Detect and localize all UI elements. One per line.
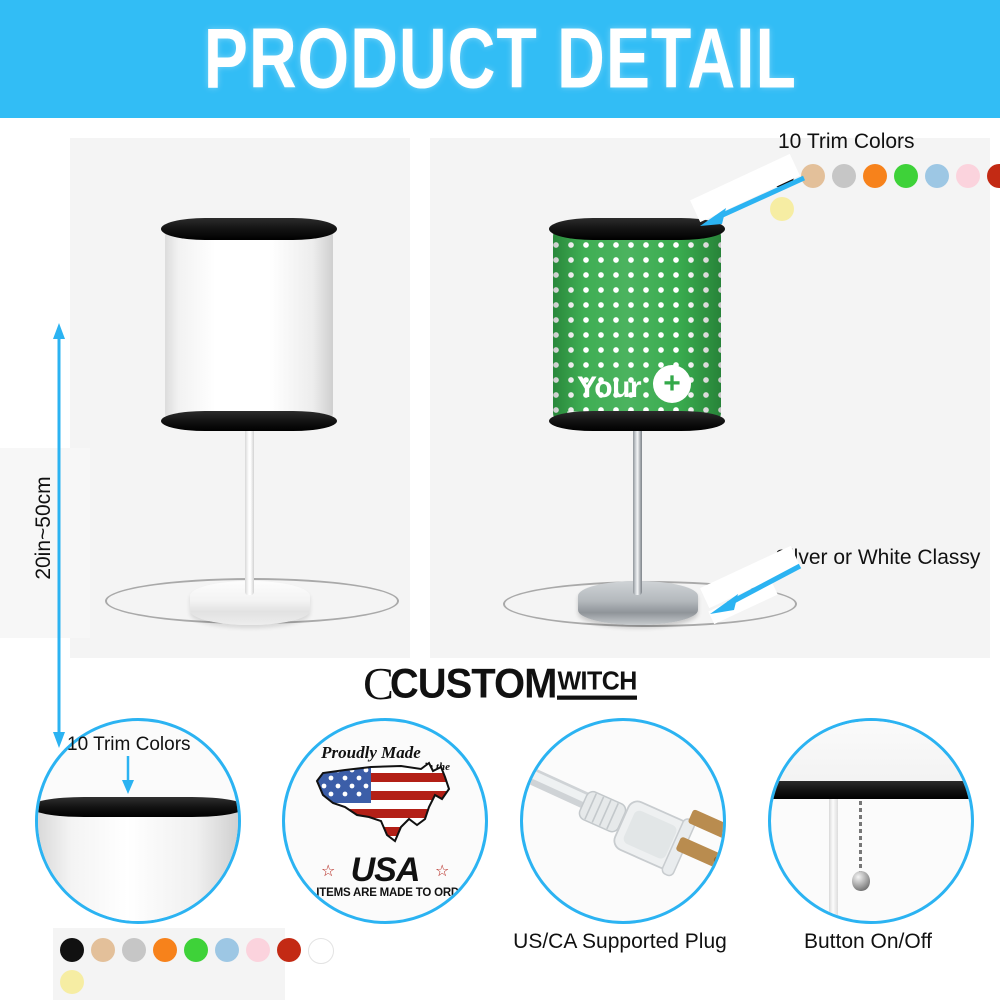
- trim-swatch-green[interactable]: [894, 164, 918, 188]
- trim-swatch-orange[interactable]: [863, 164, 887, 188]
- feature-trim-inner-label: 10 Trim Colors: [67, 734, 191, 756]
- trim-swatch-green[interactable]: [184, 938, 208, 962]
- trim-colors-top-label: 10 Trim Colors: [778, 130, 915, 154]
- feature-plug-caption: US/CA Supported Plug: [500, 930, 740, 954]
- trim-swatch-light-blue[interactable]: [215, 938, 239, 962]
- trim-swatch-pink[interactable]: [246, 938, 270, 962]
- feature-circle-switch: [768, 718, 974, 924]
- trim-shade-body: [35, 805, 241, 924]
- page-header: PRODUCT DETAIL: [0, 0, 1000, 118]
- trim-swatch-red[interactable]: [987, 164, 1000, 188]
- trim-swatch-gray[interactable]: [832, 164, 856, 188]
- lamp-white: [160, 203, 340, 633]
- switch-pull-chain[interactable]: [859, 801, 862, 877]
- trim-shade-black-ring: [35, 797, 241, 817]
- power-plug-icon: [523, 721, 723, 921]
- page-title: PRODUCT DETAIL: [203, 17, 796, 102]
- trim-swatch-tan[interactable]: [91, 938, 115, 962]
- lampshade-white-main: [165, 227, 333, 422]
- switch-shade-body: [768, 718, 974, 785]
- base-callout-arrow: [700, 558, 810, 618]
- trim-swatch-white[interactable]: [308, 938, 334, 964]
- switch-stem: [829, 799, 838, 921]
- design-text-line1: Your: [577, 371, 641, 405]
- usa-line4: ALL ITEMS ARE MADE TO ORDER!: [285, 887, 485, 899]
- feature-circle-usa: Proudly Made in the: [282, 718, 488, 924]
- trim-callout-arrow: [692, 170, 812, 230]
- trim-swatch-row-bottom-1: [60, 938, 334, 964]
- trim-swatch-red[interactable]: [277, 938, 301, 962]
- product-detail-page: PRODUCT DETAIL 7in~18cm 20in~50cm: [0, 0, 1000, 1000]
- plus-icon: +: [653, 365, 691, 403]
- usa-star-right: ☆: [435, 861, 449, 881]
- trim-swatch-orange[interactable]: [153, 938, 177, 962]
- trim-swatch-light-blue[interactable]: [925, 164, 949, 188]
- trim-swatch-black[interactable]: [60, 938, 84, 962]
- brand-logo: C CUSTOM WITCH: [0, 660, 1000, 708]
- trim-swatch-row-bottom-2: [60, 970, 84, 994]
- logo-primary-text: CUSTOM: [390, 663, 557, 705]
- feature-row: 10 Trim Colors Proudly Made in the: [0, 712, 1000, 1000]
- lampshade-green-surface: Your + Design: [553, 227, 721, 422]
- trim-swatch-pink[interactable]: [956, 164, 980, 188]
- feature-circle-plug: [520, 718, 726, 924]
- switch-shade-trim: [768, 781, 974, 799]
- logo-secondary-text: WITCH: [557, 668, 636, 700]
- lampshade-trim-top-white: [161, 218, 337, 240]
- usa-badge: Proudly Made in the: [285, 721, 485, 921]
- switch-pull-bead[interactable]: [852, 871, 870, 891]
- usa-map-flag-icon: [309, 755, 461, 851]
- trim-swatch-gray[interactable]: [122, 938, 146, 962]
- usa-line3: USA: [285, 851, 485, 890]
- lampshade-green: Your + Design: [553, 227, 721, 422]
- lampshade-white-body: [165, 227, 333, 422]
- lampshade-trim-bottom-white: [161, 411, 337, 431]
- main-illustration-area: 7in~18cm 20in~50cm: [0, 118, 1000, 658]
- lampshade-trim-bottom-green: [549, 411, 725, 431]
- trim-down-arrow: [121, 756, 135, 794]
- trim-swatch-yellow[interactable]: [60, 970, 84, 994]
- feature-switch-caption: Button On/Off: [748, 930, 988, 954]
